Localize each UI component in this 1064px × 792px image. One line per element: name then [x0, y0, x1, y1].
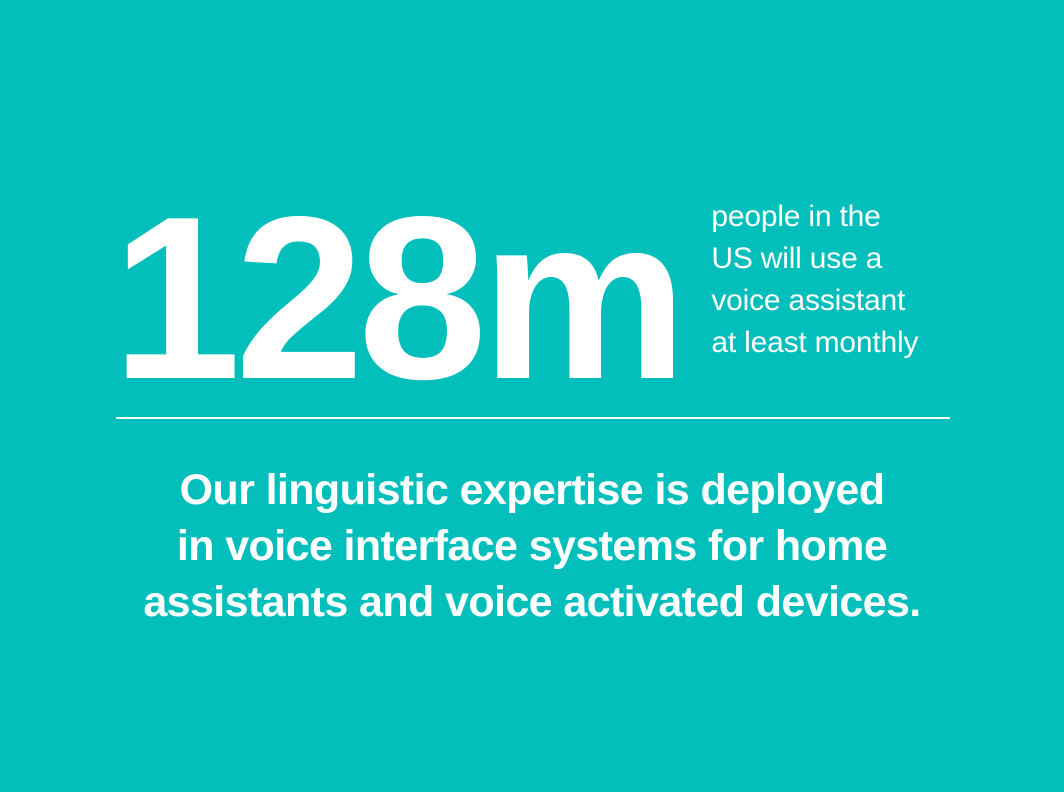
statistic-caption: people in the US will use a voice assist…: [711, 196, 918, 364]
statistic-block: 128m people in the US will use a voice a…: [112, 176, 952, 386]
statement-line-2: in voice interface systems for home: [60, 518, 1004, 574]
statistic-caption-line-1: people in the: [711, 196, 918, 238]
statement-block: Our linguistic expertise is deployed in …: [60, 462, 1004, 630]
statistic-caption-line-3: voice assistant: [711, 280, 918, 322]
statement-line-1: Our linguistic expertise is deployed: [60, 462, 1004, 518]
statement-line-3: assistants and voice activated devices.: [60, 574, 1004, 630]
horizontal-divider: [116, 417, 950, 419]
statistic-figure: 128m: [112, 204, 681, 394]
statistic-caption-line-2: US will use a: [711, 238, 918, 280]
statistic-caption-line-4: at least monthly: [711, 322, 918, 364]
infographic-slide: 128m people in the US will use a voice a…: [0, 0, 1064, 792]
